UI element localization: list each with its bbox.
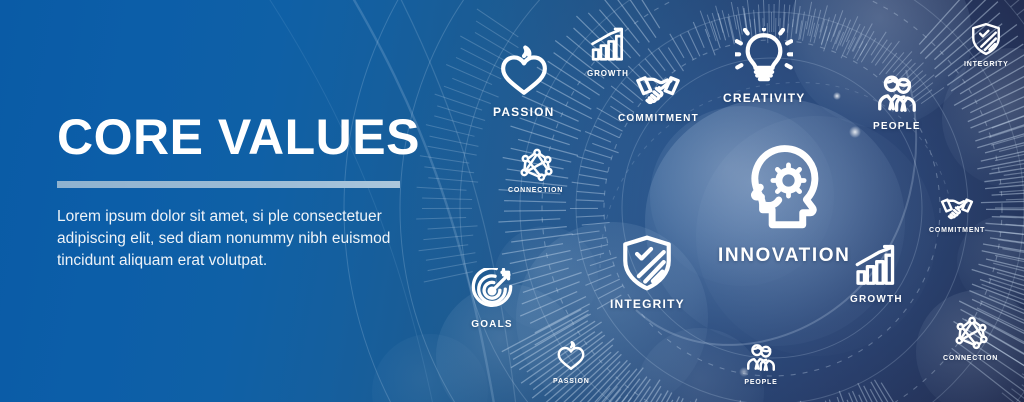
- heart-flame-icon: [554, 339, 588, 373]
- value-label: PASSION: [493, 105, 555, 119]
- value-label: GROWTH: [850, 294, 903, 305]
- two-people-icon: [874, 70, 920, 116]
- heart-flame-icon: [495, 42, 553, 100]
- value-node-connection-11[interactable]: CONNECTION: [943, 316, 998, 362]
- target-arrow-icon: [469, 268, 515, 314]
- bar-chart-arrow-icon: [589, 26, 627, 64]
- value-node-goals-8[interactable]: GOALS: [469, 268, 515, 330]
- core-values-banner: CORE VALUES Lorem ipsum dolor sit amet, …: [0, 0, 1024, 402]
- value-node-innovation[interactable]: INNOVATION: [718, 140, 850, 267]
- value-node-commitment-2[interactable]: COMMITMENT: [618, 62, 699, 124]
- value-node-commitment-7[interactable]: COMMITMENT: [929, 188, 985, 234]
- shield-check-icon: [969, 22, 1003, 56]
- value-label: INNOVATION: [718, 245, 850, 267]
- value-node-connection-6[interactable]: CONNECTION: [508, 148, 563, 194]
- value-label: PASSION: [553, 378, 590, 385]
- value-node-people-4[interactable]: PEOPLE: [873, 70, 921, 132]
- page-title: CORE VALUES: [57, 112, 417, 162]
- value-node-creativity-3[interactable]: CREATIVITY: [723, 28, 805, 105]
- value-label: COMMITMENT: [618, 113, 699, 124]
- value-node-integrity-9[interactable]: INTEGRITY: [610, 234, 685, 311]
- bar-chart-arrow-icon: [853, 243, 899, 289]
- value-label: INTEGRITY: [610, 297, 685, 311]
- network-nodes-icon: [954, 316, 988, 350]
- value-node-integrity-5[interactable]: INTEGRITY: [964, 22, 1009, 68]
- value-label: CONNECTION: [508, 187, 563, 194]
- value-node-passion-0[interactable]: PASSION: [493, 42, 555, 119]
- title-divider: [57, 181, 400, 188]
- value-label: CONNECTION: [943, 355, 998, 362]
- head-gear-icon: [736, 140, 832, 236]
- shield-check-icon: [618, 234, 676, 292]
- handshake-icon: [940, 188, 974, 222]
- value-label: CREATIVITY: [723, 91, 805, 105]
- page-description: Lorem ipsum dolor sit amet, si ple conse…: [57, 206, 409, 272]
- value-label: COMMITMENT: [929, 227, 985, 234]
- lightbulb-icon: [735, 28, 793, 86]
- network-nodes-icon: [519, 148, 553, 182]
- two-people-icon: [744, 340, 778, 374]
- handshake-icon: [635, 62, 681, 108]
- value-label: PEOPLE: [744, 379, 777, 386]
- value-label: GOALS: [471, 319, 513, 330]
- value-label: INTEGRITY: [964, 61, 1009, 68]
- value-node-people-13[interactable]: PEOPLE: [744, 340, 778, 386]
- value-node-growth-10[interactable]: GROWTH: [850, 243, 903, 305]
- value-label: PEOPLE: [873, 121, 921, 132]
- left-text-panel: CORE VALUES Lorem ipsum dolor sit amet, …: [57, 112, 417, 272]
- value-node-passion-12[interactable]: PASSION: [553, 339, 590, 385]
